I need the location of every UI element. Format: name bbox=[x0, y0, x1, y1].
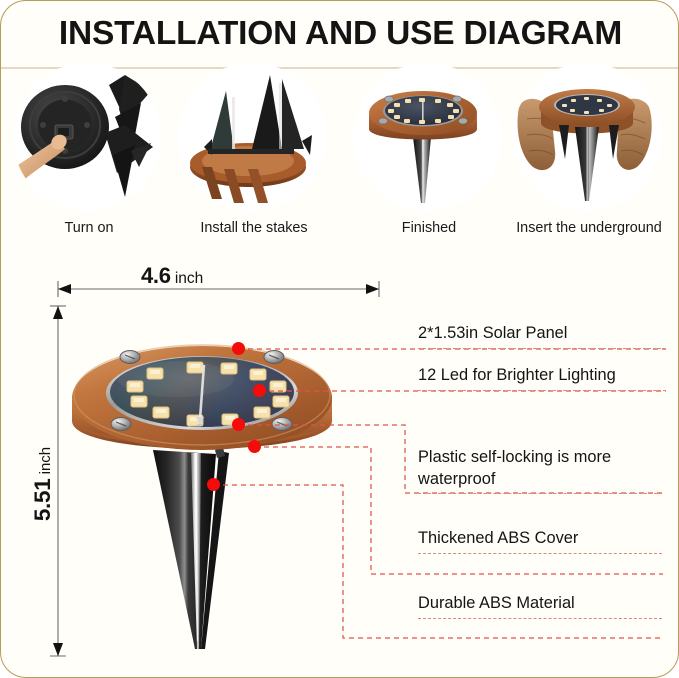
callout-dot-abs-material bbox=[207, 478, 220, 491]
width-arrowhead-left bbox=[58, 284, 71, 294]
width-arrowhead-right bbox=[366, 284, 379, 294]
callout-label-solar-panel: 2*1.53in Solar Panel bbox=[418, 323, 666, 349]
callout-label-self-locking: Plastic self-locking is more waterproof bbox=[418, 447, 662, 494]
callout-label-abs-material: Durable ABS Material bbox=[418, 593, 662, 619]
callout-label-abs-cover: Thickened ABS Cover bbox=[418, 528, 662, 554]
callout-dot-self-locking bbox=[232, 418, 245, 431]
height-arrowhead-bottom bbox=[53, 643, 63, 656]
callout-dot-solar-panel bbox=[232, 342, 245, 355]
height-arrowhead-top bbox=[53, 306, 63, 319]
product-diagram-page: INSTALLATION AND USE DIAGRAM bbox=[0, 0, 679, 678]
callout-label-led-count: 12 Led for Brighter Lighting bbox=[418, 365, 666, 391]
callout-dot-abs-cover bbox=[248, 440, 261, 453]
height-dimension-arrow bbox=[50, 306, 66, 656]
width-dimension-arrow bbox=[58, 281, 379, 297]
callout-dot-led bbox=[253, 384, 266, 397]
